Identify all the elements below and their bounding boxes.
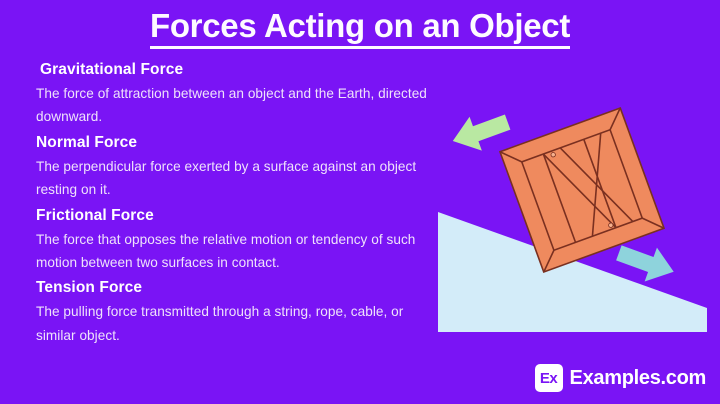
force-item-gravitational: Gravitational Force The force of attract… <box>36 58 436 129</box>
brand-logo[interactable]: Ex Examples.com <box>535 364 706 392</box>
illustration-svg <box>425 55 720 345</box>
slide-canvas: Forces Acting on an Object Gravitational… <box>0 0 720 404</box>
force-name-tension: Tension Force <box>36 276 436 300</box>
brand-name-text: Examples.com <box>570 367 706 390</box>
force-description-frictional: The force that opposes the relative moti… <box>36 228 436 275</box>
title-area: Forces Acting on an Object <box>0 8 720 49</box>
force-name-frictional: Frictional Force <box>36 204 436 228</box>
brand-mark-icon: Ex <box>535 364 563 392</box>
inclined-plane-illustration <box>425 55 720 345</box>
force-description-tension: The pulling force transmitted through a … <box>36 300 436 347</box>
force-item-frictional: Frictional Force The force that opposes … <box>36 204 436 275</box>
force-name-normal: Normal Force <box>36 131 436 155</box>
force-description-normal: The perpendicular force exerted by a sur… <box>36 155 436 202</box>
page-title: Forces Acting on an Object <box>150 8 570 49</box>
force-description-gravitational: The force of attraction between an objec… <box>36 82 436 129</box>
force-name-gravitational: Gravitational Force <box>36 58 436 82</box>
force-item-normal: Normal Force The perpendicular force exe… <box>36 131 436 202</box>
force-item-tension: Tension Force The pulling force transmit… <box>36 276 436 347</box>
force-definition-list: Gravitational Force The force of attract… <box>36 58 436 349</box>
